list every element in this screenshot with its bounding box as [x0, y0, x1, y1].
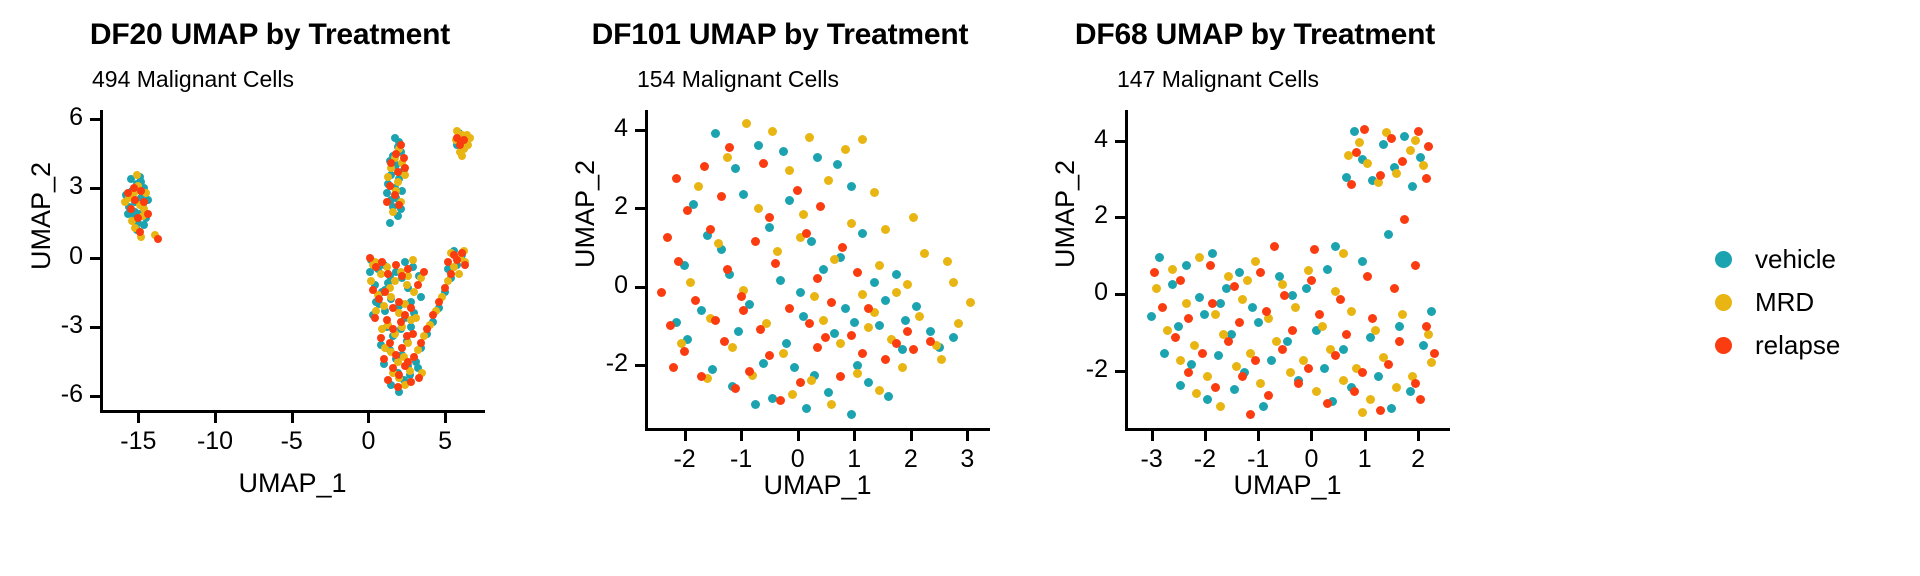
- x-tick: [797, 431, 800, 441]
- scatter-point: [1278, 280, 1287, 289]
- scatter-point: [884, 392, 893, 401]
- y-tick-label: 0: [540, 271, 628, 300]
- x-tick: [966, 431, 969, 441]
- scatter-point: [1182, 299, 1191, 308]
- scatter-point: [830, 329, 839, 338]
- scatter-point: [1398, 157, 1407, 166]
- scatter-point: [1387, 134, 1396, 143]
- scatter-point: [805, 319, 814, 328]
- scatter-point: [397, 141, 405, 149]
- scatter-point: [779, 349, 788, 358]
- x-tick: [1257, 431, 1260, 441]
- scatter-point: [790, 363, 799, 372]
- scatter-point: [1208, 249, 1217, 258]
- scatter-point: [892, 270, 901, 279]
- scatter-point: [1176, 276, 1185, 285]
- scatter-point: [819, 265, 828, 274]
- x-tick: [1364, 431, 1367, 441]
- scatter-point: [920, 249, 929, 258]
- scatter-point: [1294, 379, 1303, 388]
- scatter-point: [1235, 318, 1244, 327]
- scatter-panel: DF68 UMAP by Treatment147 Malignant Cell…: [1020, 0, 1490, 576]
- scatter-point: [672, 174, 681, 183]
- scatter-point: [1230, 282, 1239, 291]
- scatter-point: [836, 339, 845, 348]
- scatter-point: [841, 304, 850, 313]
- legend-item[interactable]: MRD: [1715, 281, 1915, 324]
- scatter-point: [1302, 284, 1311, 293]
- scatter-point: [380, 355, 388, 363]
- scatter-point: [1174, 322, 1183, 331]
- x-tick: [853, 431, 856, 441]
- scatter-point: [785, 196, 794, 205]
- scatter-point: [1206, 261, 1215, 270]
- y-tick-label: 2: [1020, 201, 1108, 230]
- scatter-point: [414, 281, 422, 289]
- x-tick: [1417, 431, 1420, 441]
- scatter-point: [1315, 310, 1324, 319]
- scatter-point: [386, 339, 394, 347]
- scatter-point: [1371, 326, 1380, 335]
- y-tick-label: -2: [1020, 355, 1108, 384]
- x-tick-label: 2: [1373, 445, 1463, 474]
- scatter-point: [903, 327, 912, 336]
- scatter-point: [771, 259, 780, 268]
- scatter-point: [1286, 368, 1295, 377]
- scatter-point: [657, 288, 666, 297]
- scatter-point: [875, 321, 884, 330]
- scatter-point: [847, 219, 856, 228]
- scatter-point: [1230, 385, 1239, 394]
- scatter-point: [711, 316, 720, 325]
- scatter-point: [694, 182, 703, 191]
- scatter-point: [807, 376, 816, 385]
- scatter-point: [1392, 383, 1401, 392]
- scatter-point: [1238, 295, 1247, 304]
- x-tick: [214, 413, 217, 423]
- scatter-point: [383, 189, 391, 197]
- legend-item-label: relapse: [1755, 330, 1840, 361]
- scatter-point: [669, 363, 678, 372]
- scatter-point: [725, 143, 734, 152]
- scatter-point: [1368, 314, 1377, 323]
- scatter-point: [912, 302, 921, 311]
- scatter-point: [858, 290, 867, 299]
- scatter-point: [435, 298, 443, 306]
- scatter-point: [124, 189, 132, 197]
- scatter-point: [782, 339, 791, 348]
- scatter-point: [395, 201, 403, 209]
- scatter-point: [1192, 389, 1201, 398]
- scatter-point: [407, 378, 415, 386]
- scatter-point: [739, 190, 748, 199]
- scatter-point: [1200, 310, 1209, 319]
- scatter-point: [768, 127, 777, 136]
- scatter-point: [1176, 381, 1185, 390]
- scatter-point: [765, 223, 774, 232]
- scatter-point: [765, 351, 774, 360]
- x-axis-line: [645, 428, 990, 431]
- y-tick-label: -6: [0, 380, 83, 409]
- scatter-point: [1304, 266, 1313, 275]
- x-tick: [910, 431, 913, 441]
- scatter-point: [394, 178, 402, 186]
- scatter-point: [1190, 341, 1199, 350]
- scatter-point: [870, 188, 879, 197]
- scatter-point: [853, 369, 862, 378]
- legend-color-swatch-icon: [1715, 294, 1732, 311]
- scatter-point: [1398, 310, 1407, 319]
- y-tick-label: -3: [0, 311, 83, 340]
- scatter-point: [1251, 257, 1260, 266]
- panel-title: DF68 UMAP by Treatment: [1020, 18, 1490, 52]
- scatter-point: [850, 318, 859, 327]
- y-tick-label: 4: [1020, 125, 1108, 154]
- y-axis-line: [1125, 110, 1128, 431]
- scatter-point: [1155, 253, 1164, 262]
- scatter-point: [1288, 326, 1297, 335]
- y-tick-label: 0: [1020, 278, 1108, 307]
- scatter-point: [1331, 242, 1340, 251]
- scatter-point: [1350, 387, 1359, 396]
- scatter-point: [1280, 291, 1289, 300]
- scatter-point: [943, 257, 952, 266]
- scatter-point: [915, 312, 924, 321]
- y-tick: [635, 207, 645, 210]
- scatter-point: [1363, 272, 1372, 281]
- scatter-point: [864, 304, 873, 313]
- y-tick: [1115, 216, 1125, 219]
- scatter-point: [1339, 376, 1348, 385]
- scatter-point: [1392, 169, 1401, 178]
- y-tick-label: -2: [540, 349, 628, 378]
- scatter-point: [805, 133, 814, 142]
- x-tick: [291, 413, 294, 423]
- scatter-point: [1259, 402, 1268, 411]
- scatter-point: [423, 325, 431, 333]
- scatter-point: [776, 276, 785, 285]
- scatter-point: [1214, 351, 1223, 360]
- scatter-point: [802, 404, 811, 413]
- scatter-point: [394, 383, 402, 391]
- y-tick: [635, 364, 645, 367]
- x-tick: [444, 413, 447, 423]
- scatter-point: [401, 171, 409, 179]
- scatter-point: [1406, 146, 1415, 155]
- scatter-point: [875, 386, 884, 395]
- scatter-point: [1422, 174, 1431, 183]
- x-tick: [367, 413, 370, 423]
- scatter-point: [949, 278, 958, 287]
- scatter-panel: DF20 UMAP by Treatment494 Malignant Cell…: [0, 0, 540, 576]
- legend: vehicleMRDrelapse: [1715, 238, 1915, 367]
- scatter-point: [1339, 345, 1348, 354]
- scatter-point: [1336, 295, 1345, 304]
- scatter-point: [1384, 230, 1393, 239]
- scatter-point: [697, 306, 706, 315]
- scatter-point: [1339, 249, 1348, 258]
- scatter-point: [1224, 272, 1233, 281]
- scatter-point: [796, 288, 805, 297]
- scatter-point: [1390, 284, 1399, 293]
- scatter-point: [813, 343, 822, 352]
- scatter-point: [395, 298, 403, 306]
- scatter-point: [133, 171, 141, 179]
- scatter-point: [858, 349, 867, 358]
- plot-area: 630-3-6-15-10-505: [100, 110, 485, 410]
- scatter-panel: DF101 UMAP by Treatment154 Malignant Cel…: [540, 0, 1020, 576]
- scatter-point: [400, 154, 408, 162]
- scatter-point: [841, 145, 850, 154]
- plot-area: 420-2-2-10123: [645, 110, 990, 428]
- scatter-point: [838, 243, 847, 252]
- scatter-point: [937, 355, 946, 364]
- scatter-point: [706, 225, 715, 234]
- scatter-point: [833, 160, 842, 169]
- x-tick: [137, 413, 140, 423]
- scatter-point: [1211, 310, 1220, 319]
- scatter-point: [1307, 276, 1316, 285]
- scatter-point: [796, 378, 805, 387]
- scatter-point: [858, 135, 867, 144]
- scatter-point: [785, 304, 794, 313]
- scatter-point: [686, 278, 695, 287]
- scatter-point: [1419, 161, 1428, 170]
- scatter-point: [384, 173, 392, 181]
- scatter-point: [1358, 368, 1367, 377]
- scatter-point: [788, 390, 797, 399]
- x-tick: [684, 431, 687, 441]
- scatter-point: [458, 152, 466, 160]
- scatter-point: [1384, 360, 1393, 369]
- scatter-point: [847, 182, 856, 191]
- scatter-point: [389, 208, 397, 216]
- scatter-point: [1376, 171, 1385, 180]
- scatter-point: [881, 225, 890, 234]
- scatter-point: [1379, 140, 1388, 149]
- scatter-point: [751, 400, 760, 409]
- panel-title: DF101 UMAP by Treatment: [540, 18, 1020, 52]
- scatter-point: [386, 182, 394, 190]
- scatter-point: [458, 249, 466, 257]
- scatter-point: [847, 331, 856, 340]
- scatter-point: [417, 339, 425, 347]
- scatter-point: [807, 237, 816, 246]
- scatter-point: [391, 191, 399, 199]
- scatter-point: [723, 153, 732, 162]
- scatter-point: [1158, 303, 1167, 312]
- scatter-point: [1264, 391, 1273, 400]
- scatter-point: [802, 229, 811, 238]
- scatter-point: [392, 150, 400, 158]
- scatter-point: [731, 384, 740, 393]
- scatter-point: [864, 323, 873, 332]
- scatter-point: [1427, 307, 1436, 316]
- scatter-point: [1171, 333, 1180, 342]
- x-axis-title: UMAP_1: [645, 470, 990, 501]
- y-tick: [1115, 370, 1125, 373]
- x-tick-label: 5: [400, 427, 490, 456]
- scatter-point: [663, 233, 672, 242]
- scatter-point: [412, 314, 420, 322]
- scatter-point: [1216, 402, 1225, 411]
- scatter-point: [776, 396, 785, 405]
- scatter-point: [816, 202, 825, 211]
- y-tick-label: 3: [0, 172, 83, 201]
- x-axis-title: UMAP_1: [1125, 470, 1450, 501]
- scatter-point: [810, 292, 819, 301]
- scatter-point: [731, 164, 740, 173]
- scatter-point: [728, 343, 737, 352]
- scatter-point: [1406, 387, 1415, 396]
- scatter-point: [1395, 337, 1404, 346]
- scatter-point: [901, 316, 910, 325]
- scatter-point: [903, 280, 912, 289]
- scatter-point: [827, 400, 836, 409]
- scatter-point: [1347, 180, 1356, 189]
- scatter-point: [759, 159, 768, 168]
- scatter-point: [1288, 291, 1297, 300]
- scatter-point: [881, 355, 890, 364]
- scatter-point: [1424, 330, 1433, 339]
- scatter-point: [1358, 257, 1367, 266]
- scatter-point: [392, 261, 400, 269]
- legend-item[interactable]: relapse: [1715, 324, 1915, 367]
- scatter-point: [1251, 356, 1260, 365]
- panel-subtitle: 147 Malignant Cells: [1117, 66, 1319, 93]
- scatter-point: [754, 204, 763, 213]
- scatter-point: [734, 327, 743, 336]
- scatter-point: [1360, 125, 1369, 134]
- scatter-point: [1358, 408, 1367, 417]
- scatter-point: [723, 265, 732, 274]
- scatter-point: [1411, 261, 1420, 270]
- scatter-point: [742, 119, 751, 128]
- scatter-point: [1150, 268, 1159, 277]
- y-tick: [635, 286, 645, 289]
- y-tick-label: 0: [0, 242, 83, 271]
- scatter-point: [813, 153, 822, 162]
- scatter-point: [966, 298, 975, 307]
- scatter-point: [720, 337, 729, 346]
- y-tick-label: 2: [540, 192, 628, 221]
- y-tick: [635, 129, 645, 132]
- scatter-point: [691, 296, 700, 305]
- plot-area: 420-2-3-2-1012: [1125, 110, 1450, 428]
- scatter-point: [711, 129, 720, 138]
- y-tick-label: 4: [540, 114, 628, 143]
- scatter-point: [1267, 356, 1276, 365]
- scatter-point: [1323, 265, 1332, 274]
- scatter-point: [409, 330, 417, 338]
- scatter-point: [140, 198, 148, 206]
- scatter-point: [380, 302, 388, 310]
- y-tick: [1115, 140, 1125, 143]
- scatter-point: [1198, 349, 1207, 358]
- scatter-point: [417, 293, 425, 301]
- scatter-point: [1203, 372, 1212, 381]
- y-tick: [90, 395, 100, 398]
- scatter-point: [819, 316, 828, 325]
- scatter-point: [1427, 358, 1436, 367]
- scatter-point: [397, 318, 405, 326]
- scatter-point: [154, 235, 162, 243]
- scatter-point: [1291, 303, 1300, 312]
- scatter-point: [827, 298, 836, 307]
- scatter-point: [1278, 345, 1287, 354]
- scatter-point: [949, 333, 958, 342]
- y-axis-line: [645, 110, 648, 431]
- scatter-point: [1374, 372, 1383, 381]
- x-axis-title: UMAP_1: [100, 468, 485, 499]
- scatter-point: [708, 365, 717, 374]
- scatter-point: [909, 345, 918, 354]
- legend-color-swatch-icon: [1715, 337, 1732, 354]
- scatter-point: [1160, 349, 1169, 358]
- scatter-point: [366, 254, 374, 262]
- scatter-point: [398, 344, 406, 352]
- x-axis-line: [1125, 428, 1450, 431]
- scatter-point: [773, 247, 782, 256]
- scatter-point: [683, 206, 692, 215]
- scatter-point: [779, 147, 788, 156]
- scatter-point: [1203, 395, 1212, 404]
- scatter-point: [415, 374, 423, 382]
- scatter-point: [756, 325, 765, 334]
- panel-title: DF20 UMAP by Treatment: [0, 18, 540, 52]
- scatter-point: [1310, 245, 1319, 254]
- scatter-point: [858, 229, 867, 238]
- scatter-point: [739, 306, 748, 315]
- scatter-point: [1256, 268, 1265, 277]
- scatter-point: [1323, 399, 1332, 408]
- scatter-point: [1208, 299, 1217, 308]
- scatter-point: [700, 162, 709, 171]
- scatter-point: [765, 213, 774, 222]
- scatter-point: [1152, 284, 1161, 293]
- scatter-point: [836, 372, 845, 381]
- scatter-point: [1246, 410, 1255, 419]
- scatter-point: [1262, 307, 1271, 316]
- scatter-point: [144, 210, 152, 218]
- scatter-point: [383, 316, 391, 324]
- scatter-point: [1168, 265, 1177, 274]
- scatter-point: [926, 327, 935, 336]
- scatter-point: [793, 186, 802, 195]
- scatter-point: [1411, 379, 1420, 388]
- x-tick: [1204, 431, 1207, 441]
- scatter-point: [824, 388, 833, 397]
- scatter-point: [1224, 337, 1233, 346]
- scatter-point: [391, 134, 399, 142]
- panel-subtitle: 154 Malignant Cells: [637, 66, 839, 93]
- scatter-point: [898, 363, 907, 372]
- scatter-point: [1184, 314, 1193, 323]
- scatter-point: [1400, 132, 1409, 141]
- scatter-point: [892, 288, 901, 297]
- scatter-point: [1182, 261, 1191, 270]
- scatter-point: [1320, 364, 1329, 373]
- scatter-point: [824, 176, 833, 185]
- legend-item[interactable]: vehicle: [1715, 238, 1915, 281]
- scatter-point: [1366, 333, 1375, 342]
- scatter-point: [1318, 322, 1327, 331]
- scatter-point: [1416, 395, 1425, 404]
- y-axis-line: [100, 110, 103, 413]
- scatter-point: [1430, 349, 1439, 358]
- scatter-point: [1195, 253, 1204, 262]
- scatter-point: [785, 166, 794, 175]
